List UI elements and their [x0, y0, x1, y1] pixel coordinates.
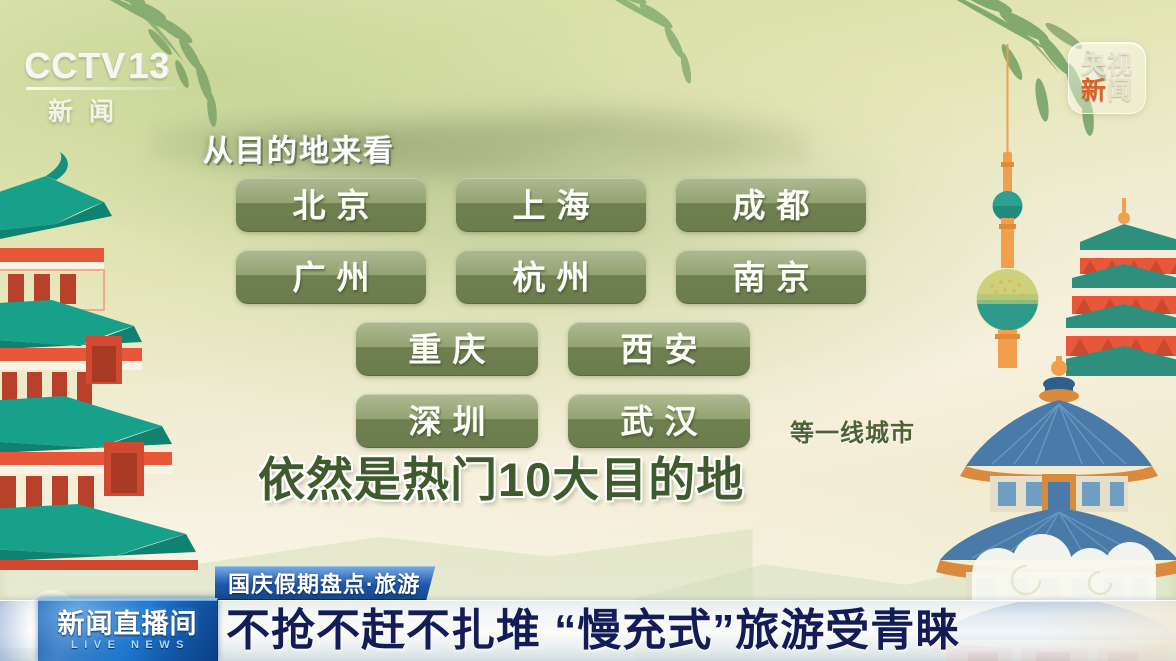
destination-pill: 成都	[676, 178, 866, 232]
destination-label: 重庆	[398, 333, 497, 366]
destination-label: 深圳	[398, 405, 497, 438]
headline-text: 不抢不赶不扎堆 “慢充式”旅游受青睐	[226, 609, 960, 653]
destination-label: 北京	[282, 189, 381, 222]
destination-row: 深圳 武汉 等一线城市	[0, 392, 1176, 450]
tail-note: 等一线城市	[790, 413, 915, 450]
destination-pill: 武汉	[568, 394, 750, 448]
destination-pill: 上海	[456, 178, 646, 232]
broadcast-graphic-stage: CCTV 13 新闻 央视 新 闻 从目的地来看 北京 上海 成都	[0, 0, 1176, 661]
destination-pill: 深圳	[356, 394, 538, 448]
channel-program-badge: 新闻直播间 LIVE NEWS	[38, 598, 218, 661]
headline-bar-left-fade	[0, 601, 30, 661]
destination-pill: 广州	[236, 250, 426, 304]
destination-label: 西安	[610, 333, 709, 366]
destination-label: 上海	[502, 189, 601, 222]
destination-label: 广州	[282, 261, 381, 294]
destination-label: 武汉	[610, 405, 709, 438]
destination-pill: 北京	[236, 178, 426, 232]
destination-pill: 杭州	[456, 250, 646, 304]
destination-pill: 西安	[568, 322, 750, 376]
destination-row: 重庆 西安	[0, 320, 1176, 378]
destination-label: 成都	[722, 189, 821, 222]
destination-pill-grid: 北京 上海 成都 广州 杭州 南京	[0, 176, 1176, 464]
destination-label: 杭州	[502, 261, 601, 294]
destination-label: 南京	[722, 261, 821, 294]
destination-row: 北京 上海 成都	[0, 176, 1176, 234]
headline-bar-right-fade	[1036, 601, 1176, 661]
topic-banner: 国庆假期盘点·旅游	[215, 566, 435, 600]
conclusion-text: 依然是热门10大目的地	[258, 456, 744, 503]
lower-third: 国庆假期盘点·旅游 不抢不赶不扎堆 “慢充式”旅游受青睐 新闻直播间 LIVE …	[0, 553, 1176, 661]
destination-pill: 南京	[676, 250, 866, 304]
channel-program-name: 新闻直播间	[58, 611, 198, 638]
topic-banner-text: 国庆假期盘点·旅游	[228, 567, 420, 599]
lead-line: 从目的地来看	[203, 126, 395, 170]
destination-pill: 重庆	[356, 322, 538, 376]
destination-row: 广州 杭州 南京	[0, 248, 1176, 306]
channel-program-name-en: LIVE NEWS	[65, 640, 190, 651]
